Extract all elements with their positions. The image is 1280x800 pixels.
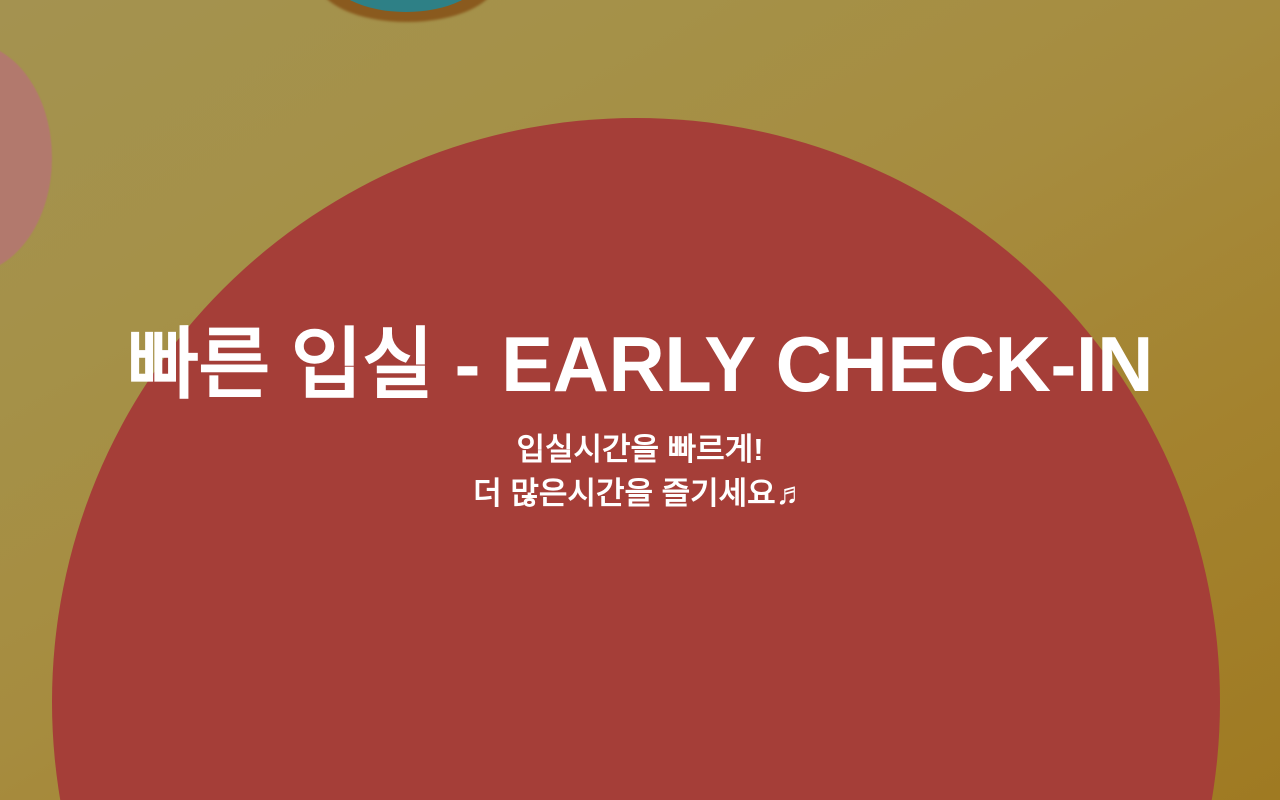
subtitle-line-1: 입실시간을 빠르게! bbox=[0, 428, 1280, 472]
subtitle-line-2: 더 많은시간을 즐기세요♬ bbox=[0, 472, 1280, 516]
text-layer: 빠른 입실 - EARLY CHECK-IN 입실시간을 빠르게! 더 많은시간… bbox=[0, 0, 1280, 800]
presentation-slide: 빠른 입실 - EARLY CHECK-IN 입실시간을 빠르게! 더 많은시간… bbox=[0, 0, 1280, 800]
slide-subtitle: 입실시간을 빠르게! 더 많은시간을 즐기세요♬ bbox=[0, 428, 1280, 516]
slide-title: 빠른 입실 - EARLY CHECK-IN bbox=[0, 324, 1280, 406]
